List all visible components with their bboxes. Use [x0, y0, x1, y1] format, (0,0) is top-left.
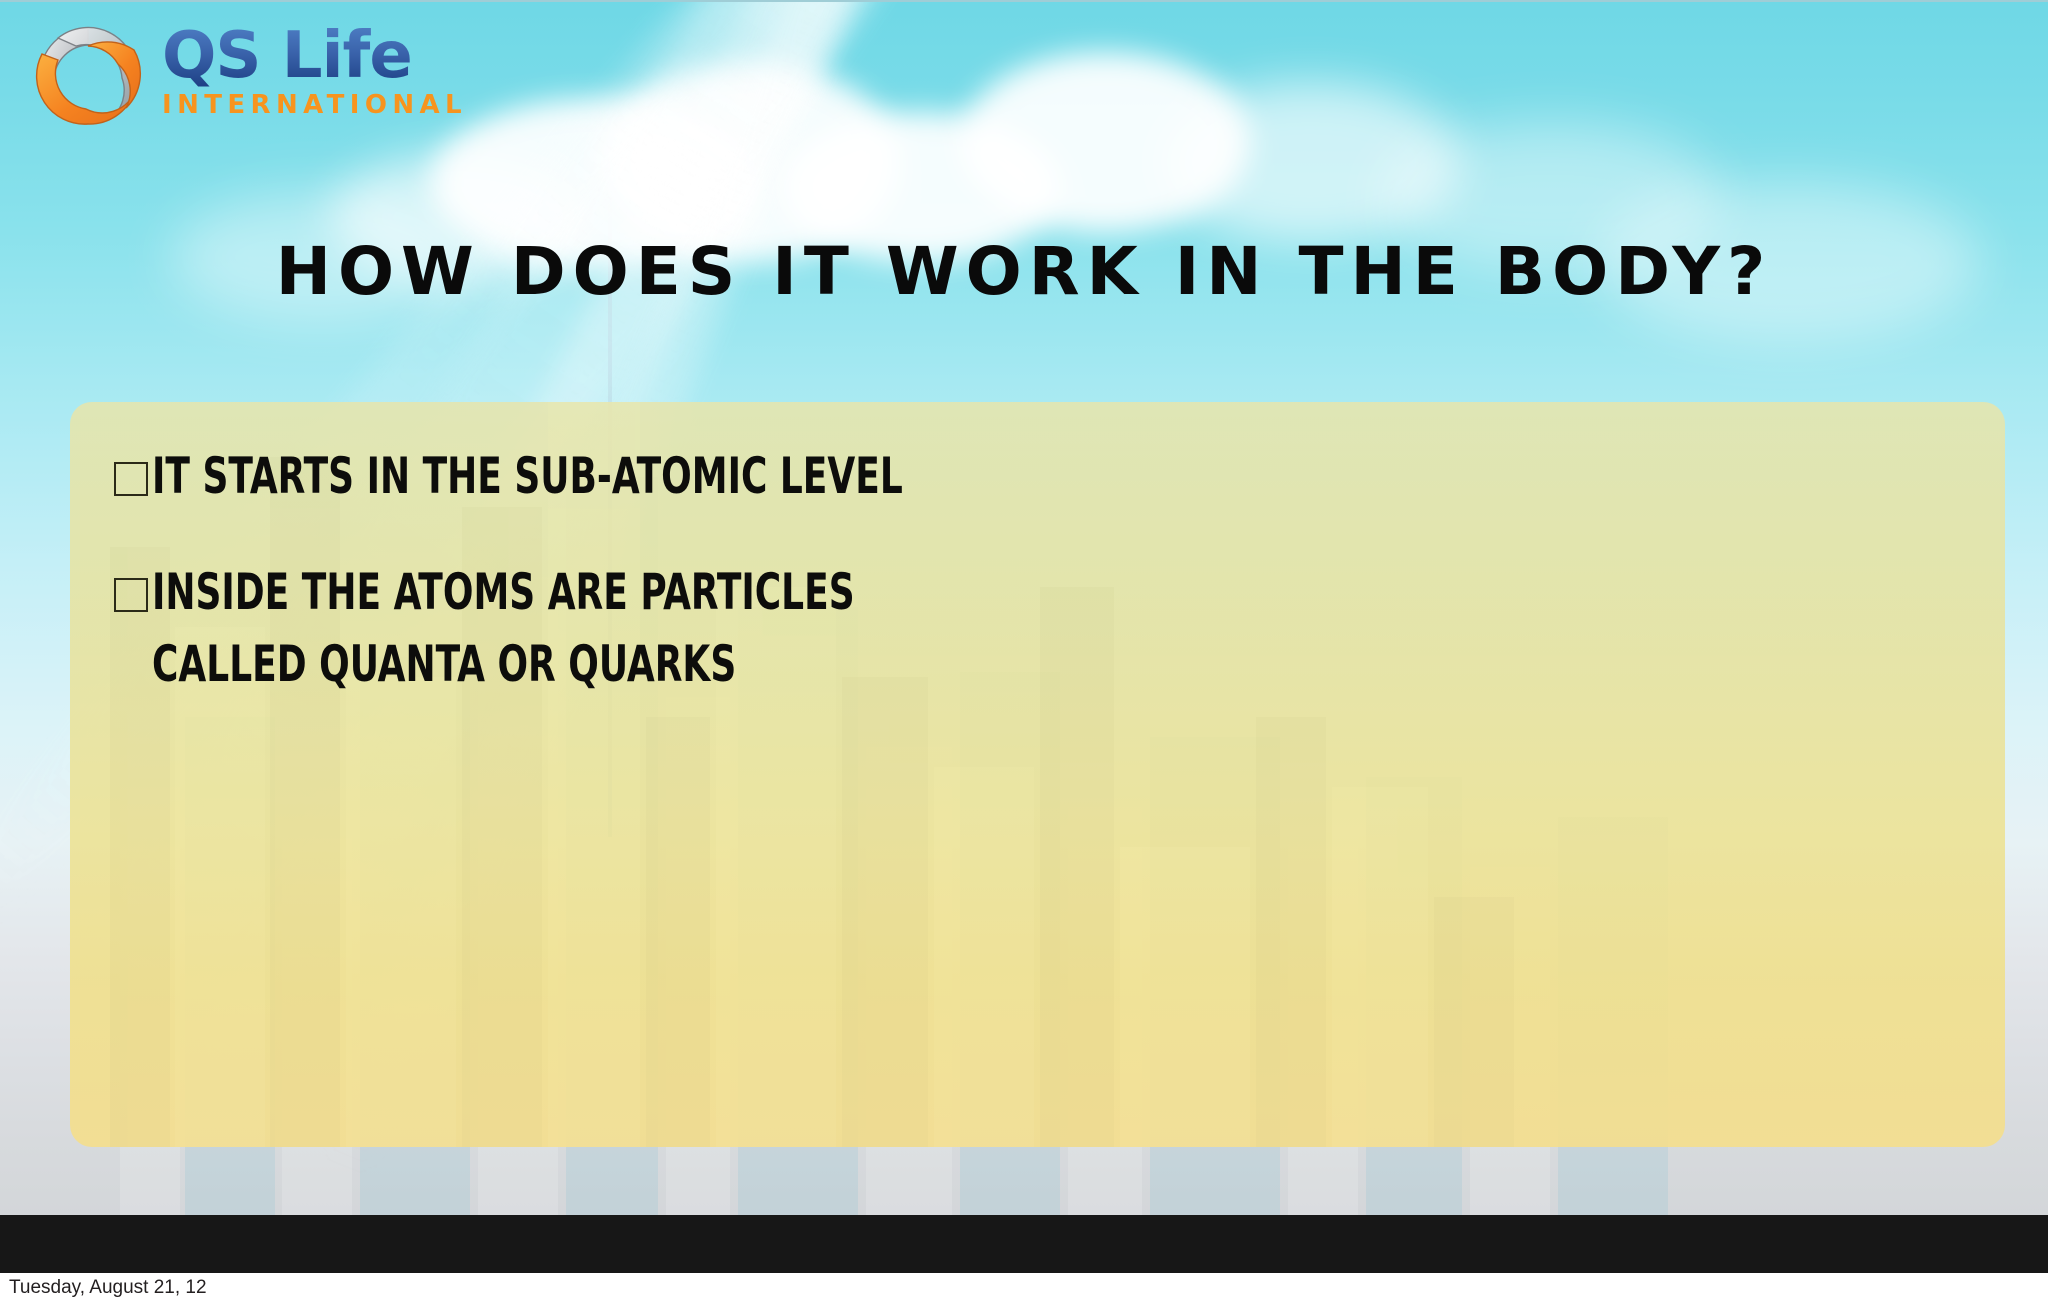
qs-life-swirl-icon — [14, 20, 162, 132]
empty-square-bullet-icon — [114, 462, 148, 496]
brand-logo[interactable]: QS Life INTERNATIONAL — [14, 16, 514, 136]
bullet-text: IT STARTS IN THE SUB-ATOMIC LEVEL — [152, 440, 903, 512]
slide-title: HOW DOES IT WORK IN THE BODY? — [0, 234, 2048, 310]
footer-date: Tuesday, August 21, 12 — [9, 1277, 207, 1299]
bullet-text: INSIDE THE ATOMS ARE PARTICLES CALLED QU… — [152, 556, 855, 700]
bullet-list: IT STARTS IN THE SUB-ATOMIC LEVEL INSIDE… — [114, 440, 1965, 744]
slide-root: QS Life INTERNATIONAL HOW DOES IT WORK I… — [0, 0, 2048, 1304]
logo-wordmark: QS Life INTERNATIONAL — [162, 24, 512, 120]
logo-brand-text: QS Life — [162, 24, 512, 88]
footer: Tuesday, August 21, 12 — [0, 1273, 2048, 1304]
slide-canvas: QS Life INTERNATIONAL HOW DOES IT WORK I… — [0, 0, 2048, 1217]
logo-tagline-text: INTERNATIONAL — [162, 90, 512, 120]
list-item: IT STARTS IN THE SUB-ATOMIC LEVEL — [114, 440, 1965, 512]
list-item: INSIDE THE ATOMS ARE PARTICLES CALLED QU… — [114, 556, 1965, 700]
empty-square-bullet-icon — [114, 578, 148, 612]
content-panel: IT STARTS IN THE SUB-ATOMIC LEVEL INSIDE… — [70, 402, 2005, 1147]
bottom-black-bar — [0, 1215, 2048, 1273]
